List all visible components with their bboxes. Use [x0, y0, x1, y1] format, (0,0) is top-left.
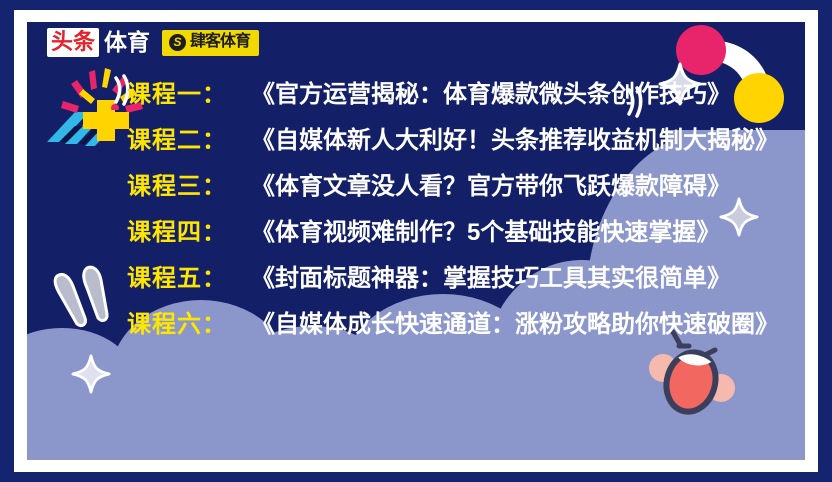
- course-label: 课程三：: [27, 166, 227, 201]
- course-label: 课程五：: [27, 258, 227, 293]
- course-row[interactable]: 课程二： 《自媒体新人大利好！头条推荐收益机制大揭秘》: [27, 120, 805, 166]
- sike-sports-badge: S 肆客体育: [162, 30, 259, 56]
- toutiao-word: 体育: [104, 31, 150, 54]
- poster-stage: 头条 体育 S 肆客体育: [27, 22, 805, 460]
- course-title: 《体育视频难制作？5个基础技能快速掌握》: [251, 212, 720, 247]
- sike-label: 肆客体育: [190, 34, 250, 50]
- toutiao-logo: 头条 体育: [47, 28, 150, 57]
- course-label: 课程一：: [27, 74, 227, 109]
- course-label: 课程六：: [27, 304, 227, 339]
- course-row[interactable]: 课程四： 《体育视频难制作？5个基础技能快速掌握》: [27, 212, 805, 258]
- course-title: 《体育文章没人看？官方带你飞跃爆款障碍》: [251, 166, 731, 201]
- poster-canvas: 头条 体育 S 肆客体育: [0, 0, 832, 482]
- course-list: 课程一： 《官方运营揭秘：体育爆款微头条创作技巧》 课程二： 《自媒体新人大利好…: [27, 74, 805, 350]
- course-row[interactable]: 课程五： 《封面标题神器：掌握技巧工具其实很简单》: [27, 258, 805, 304]
- course-label: 课程二：: [27, 120, 227, 155]
- course-row[interactable]: 课程三： 《体育文章没人看？官方带你飞跃爆款障碍》: [27, 166, 805, 212]
- course-label: 课程四：: [27, 212, 227, 247]
- brand-logo-row: 头条 体育 S 肆客体育: [47, 28, 259, 57]
- course-row[interactable]: 课程六： 《自媒体成长快速通道：涨粉攻略助你快速破圈》: [27, 304, 805, 350]
- course-title: 《官方运营揭秘：体育爆款微头条创作技巧》: [251, 74, 731, 109]
- course-row[interactable]: 课程一： 《官方运营揭秘：体育爆款微头条创作技巧》: [27, 74, 805, 120]
- course-title: 《封面标题神器：掌握技巧工具其实很简单》: [251, 258, 731, 293]
- course-title: 《自媒体新人大利好！头条推荐收益机制大揭秘》: [251, 120, 779, 155]
- sike-coin-icon: S: [169, 34, 186, 51]
- four-point-star-icon: [71, 354, 111, 394]
- course-title: 《自媒体成长快速通道：涨粉攻略助你快速破圈》: [251, 304, 779, 339]
- toutiao-mark: 头条: [47, 28, 99, 57]
